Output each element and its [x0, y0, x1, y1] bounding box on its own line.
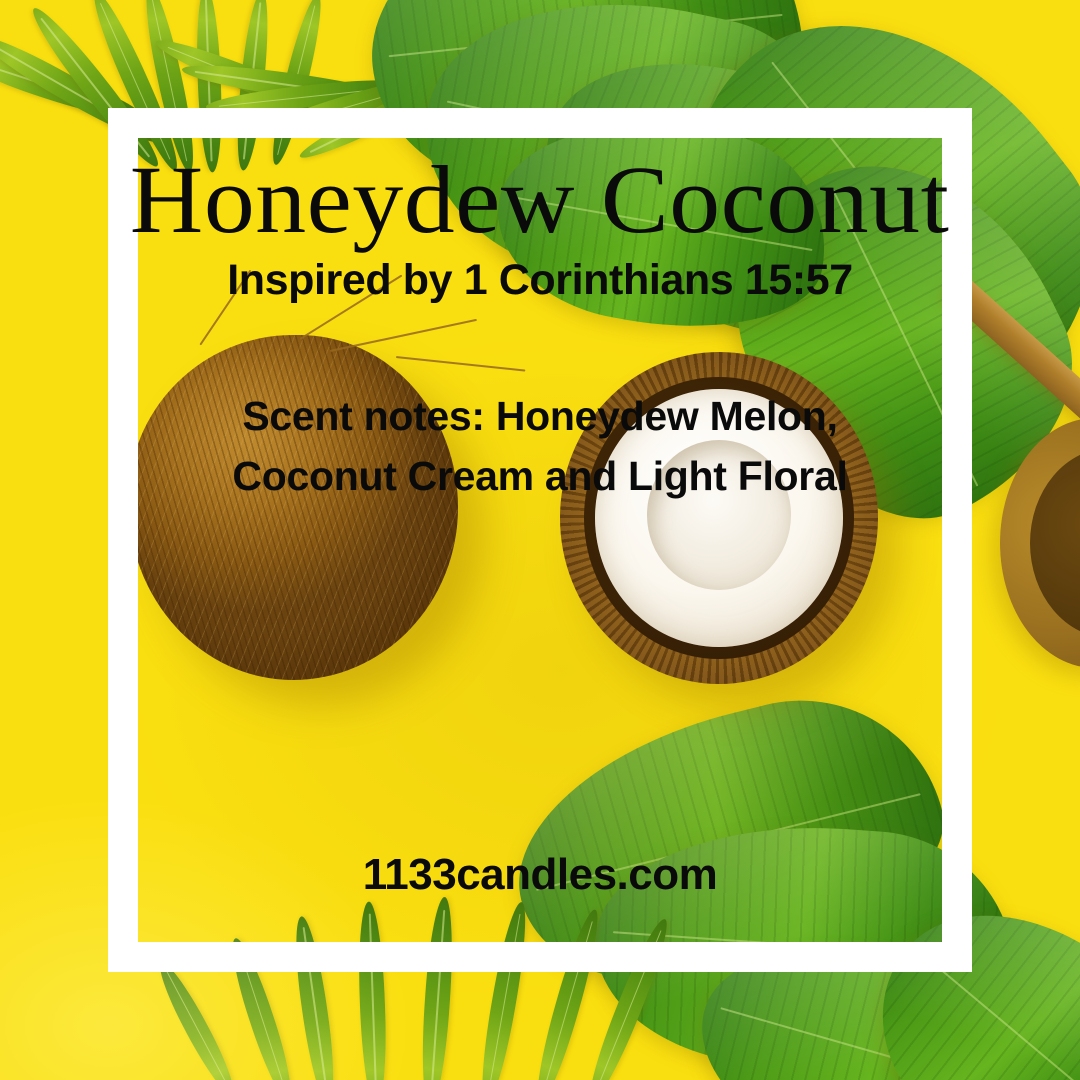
scent-notes-line-2: Coconut Cream and Light Floral	[232, 447, 847, 506]
website-url[interactable]: 1133candles.com	[138, 850, 942, 900]
scent-notes-line-1: Scent notes: Honeydew Melon,	[232, 387, 847, 446]
bowl-interior	[1030, 448, 1080, 638]
product-title: Honeydew Coconut	[130, 156, 950, 244]
inspiration-subtitle: Inspired by 1 Corinthians 15:57	[227, 258, 853, 303]
scent-notes: Scent notes: Honeydew Melon, Coconut Cre…	[232, 387, 847, 506]
candle-product-poster: Honeydew Coconut Inspired by 1 Corinthia…	[0, 0, 1080, 1080]
poster-text-block: Honeydew Coconut Inspired by 1 Corinthia…	[138, 138, 942, 942]
